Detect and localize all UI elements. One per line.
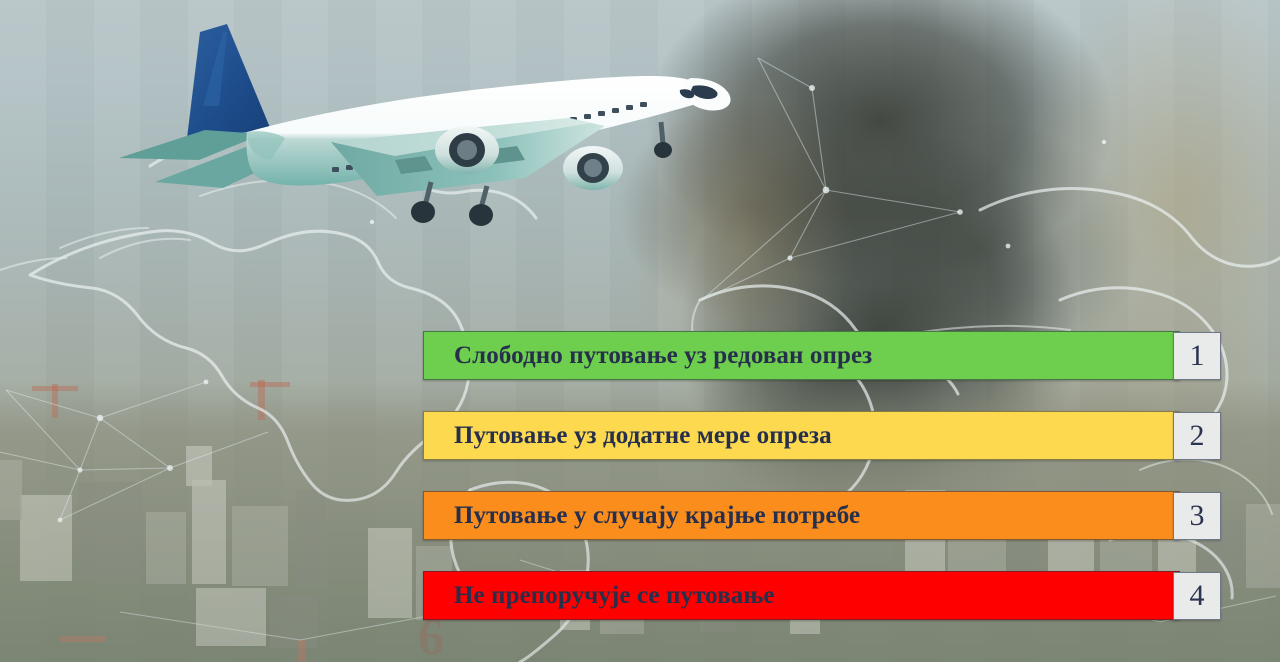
advisory-level-label-1: Слободно путовање уз редован опрез: [424, 342, 872, 370]
advisory-level-row[interactable]: Путовање у случају крајње потребе 3: [423, 491, 1223, 540]
advisory-level-number-3: 3: [1173, 492, 1221, 540]
advisory-legend: Слободно путовање уз редован опрез 1 Пут…: [423, 331, 1223, 620]
advisory-level-bar-2[interactable]: Путовање уз додатне мере опреза: [423, 411, 1180, 460]
advisory-level-row[interactable]: Не препоручује се путовање 4: [423, 571, 1223, 620]
advisory-level-bar-4[interactable]: Не препоручује се путовање: [423, 571, 1180, 620]
infographic-canvas: 6 Слободно путовање уз редован опрез 1 П…: [0, 0, 1280, 662]
advisory-level-label-3: Путовање у случају крајње потребе: [424, 502, 860, 530]
advisory-level-number-1: 1: [1173, 332, 1221, 380]
advisory-level-number-4: 4: [1173, 572, 1221, 620]
advisory-level-label-2: Путовање уз додатне мере опреза: [424, 422, 832, 450]
advisory-level-number-2: 2: [1173, 412, 1221, 460]
advisory-level-bar-3[interactable]: Путовање у случају крајње потребе: [423, 491, 1180, 540]
advisory-level-row[interactable]: Слободно путовање уз редован опрез 1: [423, 331, 1223, 380]
advisory-level-row[interactable]: Путовање уз додатне мере опреза 2: [423, 411, 1223, 460]
advisory-level-label-4: Не препоручује се путовање: [424, 582, 775, 610]
advisory-level-bar-1[interactable]: Слободно путовање уз редован опрез: [423, 331, 1180, 380]
airplane-icon: [95, 10, 775, 240]
